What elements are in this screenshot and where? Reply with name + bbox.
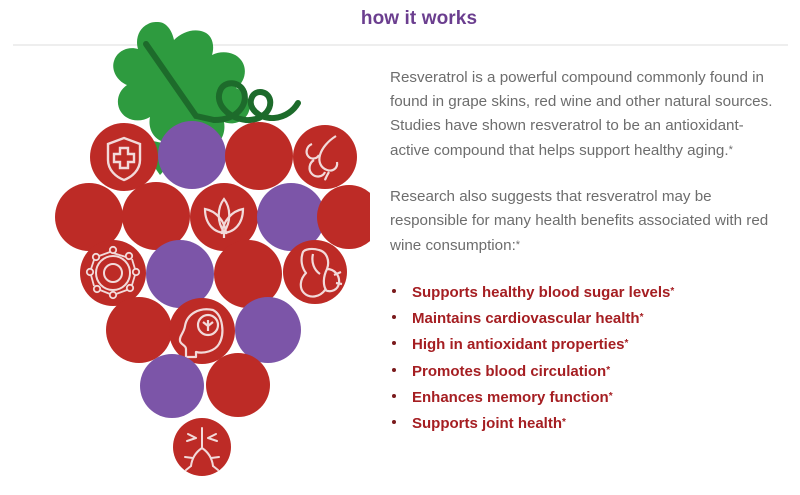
- grape-cell-molecule: [80, 240, 146, 306]
- grape-shield-cross: [90, 123, 158, 191]
- grape-blood-vessel: [173, 418, 231, 476]
- bullet-dot-icon: [392, 315, 396, 319]
- benefit-label: Maintains cardiovascular health: [412, 310, 640, 327]
- list-item: Enhances memory function*: [390, 385, 780, 410]
- bullet-dot-icon: [392, 420, 396, 424]
- grape-plain: [122, 182, 190, 250]
- footnote-asterisk: *: [606, 365, 610, 376]
- grape-plain: [106, 297, 172, 363]
- content-column: Resveratrol is a powerful compound commo…: [390, 66, 780, 437]
- list-item: Supports healthy blood sugar levels*: [390, 280, 780, 305]
- intro-paragraph: Resveratrol is a powerful compound commo…: [390, 66, 780, 163]
- grape-plain: [140, 354, 204, 418]
- footnote-asterisk: *: [729, 144, 733, 156]
- bullet-dot-icon: [392, 394, 396, 398]
- footnote-asterisk: *: [640, 312, 644, 323]
- grape-plain: [206, 353, 270, 417]
- footnote-asterisk: *: [609, 391, 613, 402]
- bullet-dot-icon: [392, 341, 396, 345]
- grape-plain: [146, 240, 214, 308]
- benefit-label: Enhances memory function: [412, 389, 609, 406]
- benefit-label: Supports healthy blood sugar levels: [412, 284, 670, 301]
- grape-joint-bone: [293, 125, 357, 189]
- benefit-label: High in antioxidant properties: [412, 336, 625, 353]
- list-item: Promotes blood circulation*: [390, 359, 780, 384]
- benefits-list: Supports healthy blood sugar levels* Mai…: [390, 280, 780, 436]
- grape-heart-anatomy: [283, 240, 347, 304]
- list-item: Maintains cardiovascular health*: [390, 306, 780, 331]
- research-paragraph: Research also suggests that resveratrol …: [390, 185, 780, 258]
- bullet-dot-icon: [392, 368, 396, 372]
- footnote-asterisk: *: [625, 338, 629, 349]
- research-paragraph-text: Research also suggests that resveratrol …: [390, 188, 768, 254]
- grape-head-memory: [169, 298, 235, 364]
- intro-paragraph-text: Resveratrol is a powerful compound commo…: [390, 69, 772, 159]
- benefit-label: Promotes blood circulation: [412, 363, 606, 380]
- list-item: Supports joint health*: [390, 411, 780, 436]
- grape-plain: [225, 122, 293, 190]
- footnote-asterisk: *: [562, 417, 566, 428]
- footnote-asterisk: *: [670, 286, 674, 297]
- list-item: High in antioxidant properties*: [390, 332, 780, 357]
- grape-plain: [158, 121, 226, 189]
- grape-cluster-illustration: [0, 0, 370, 495]
- footnote-asterisk: *: [516, 239, 520, 251]
- bullet-dot-icon: [392, 289, 396, 293]
- benefit-label: Supports joint health: [412, 415, 562, 432]
- grape-plain: [317, 185, 370, 249]
- grape-plain: [235, 297, 301, 363]
